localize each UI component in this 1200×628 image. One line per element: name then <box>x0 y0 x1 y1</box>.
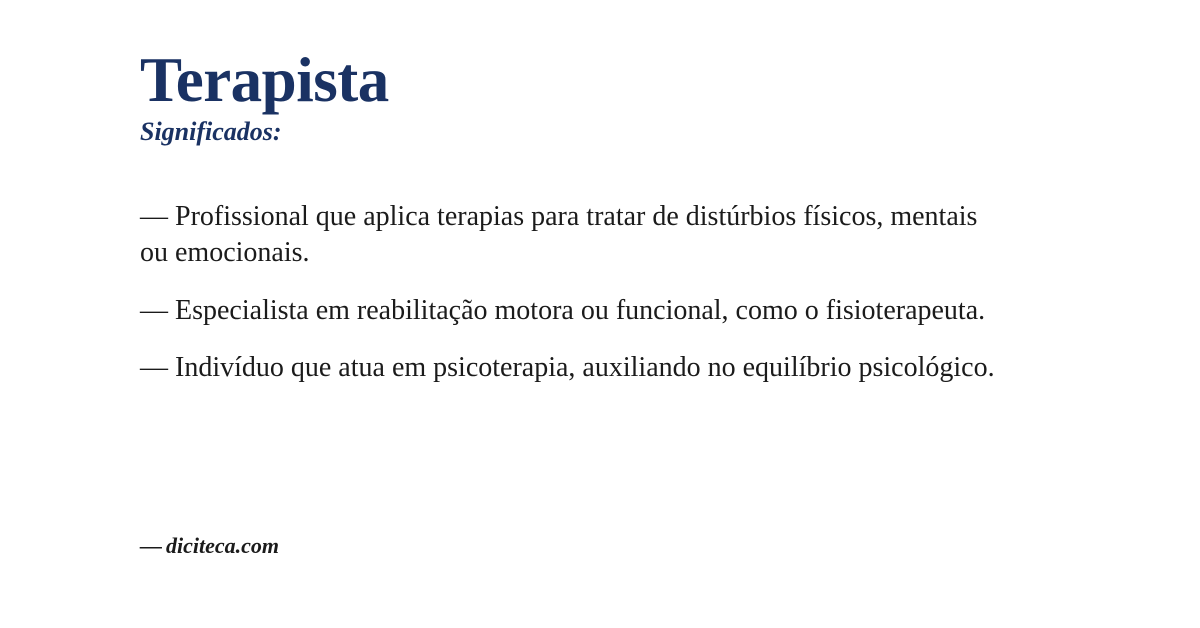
subtitle-label: Significados: <box>140 118 1140 147</box>
em-dash-marker: — <box>140 295 168 326</box>
definition-item: — Profissional que aplica terapias para … <box>140 199 1000 271</box>
definition-card: Terapista Significados: — Profissional q… <box>0 0 1200 628</box>
definition-text: Profissional que aplica terapias para tr… <box>140 201 977 268</box>
definition-item: — Indivíduo que atua em psicoterapia, au… <box>140 350 1000 386</box>
card-content: Terapista Significados: — Profissional q… <box>140 48 1140 386</box>
source-attribution: —diciteca.com <box>140 533 279 559</box>
definition-text: Especialista em reabilitação motora ou f… <box>175 295 985 326</box>
em-dash-marker: — <box>140 352 168 383</box>
page-title: Terapista <box>140 48 1140 112</box>
em-dash-marker: — <box>140 201 168 232</box>
source-dash-marker: — <box>140 533 162 558</box>
definition-item: — Especialista em reabilitação motora ou… <box>140 293 1000 329</box>
definition-list: — Profissional que aplica terapias para … <box>140 199 1140 386</box>
definition-text: Indivíduo que atua em psicoterapia, auxi… <box>175 352 995 383</box>
source-name: diciteca.com <box>166 533 279 558</box>
